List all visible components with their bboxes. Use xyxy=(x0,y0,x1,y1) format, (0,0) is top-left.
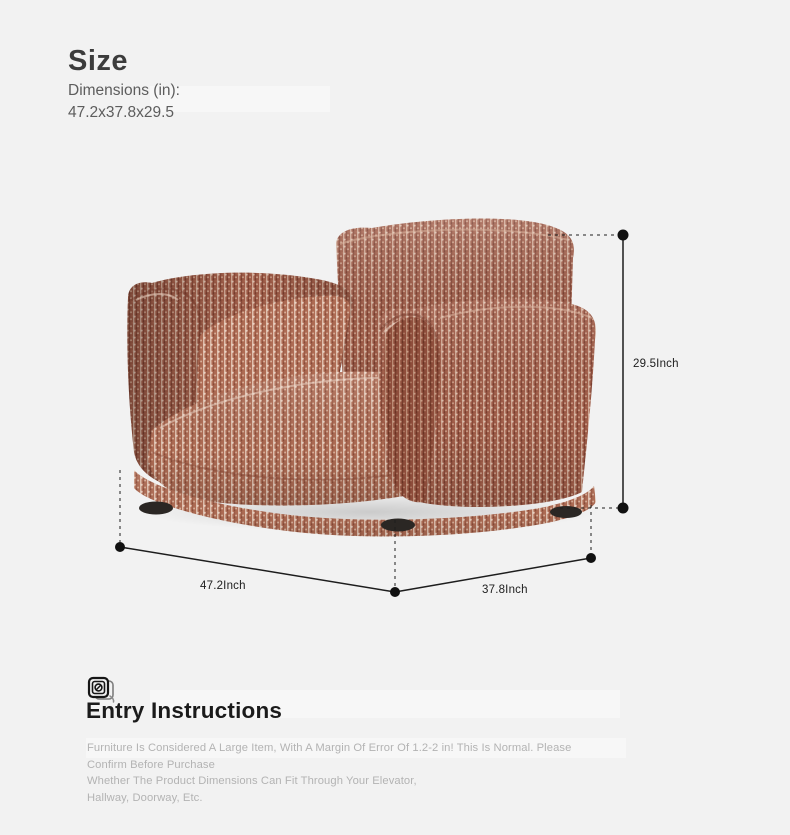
entry-line-2: Confirm Before Purchase xyxy=(87,757,687,774)
height-label: 29.5Inch xyxy=(633,358,679,370)
width-dimension-line xyxy=(120,547,395,592)
width-label: 47.2Inch xyxy=(200,580,246,592)
depth-label: 37.8Inch xyxy=(482,584,528,596)
entry-instructions-body: Furniture Is Considered A Large Item, Wi… xyxy=(87,740,687,806)
right-arm xyxy=(377,298,595,507)
entry-line-3: Whether The Product Dimensions Can Fit T… xyxy=(87,773,687,790)
entry-line-1: Furniture Is Considered A Large Item, Wi… xyxy=(87,740,687,757)
entry-line-4: Hallway, Doorway, Etc. xyxy=(87,790,687,807)
entry-instructions-title: Entry Instructions xyxy=(86,698,282,724)
